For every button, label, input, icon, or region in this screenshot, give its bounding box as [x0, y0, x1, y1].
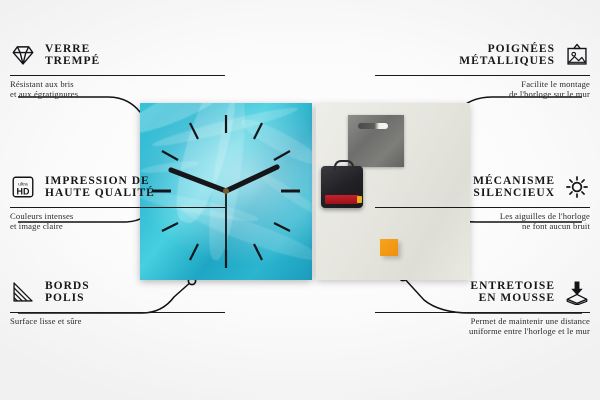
battery — [325, 195, 359, 204]
feature-impression-haute-qualite: ultra HD IMPRESSION DE HAUTE QUALITÉ Cou… — [10, 170, 225, 231]
feature-description: Résistant aux bris et aux égratignures — [10, 79, 225, 99]
keyhole-slot — [358, 123, 388, 129]
title-underline — [10, 207, 225, 208]
feature-header: VERRE TREMPÉ — [10, 38, 225, 72]
diamond-icon — [10, 42, 36, 68]
hanger-loop — [334, 160, 354, 171]
feature-title: IMPRESSION DE HAUTE QUALITÉ — [45, 175, 155, 200]
gear-icon — [564, 174, 590, 200]
quartz-movement — [321, 166, 363, 208]
feature-description: Facilite le montage de l'horloge sur le … — [375, 79, 590, 99]
feature-bords-polis: BORDS POLIS Surface lisse et sûre — [10, 275, 225, 326]
feature-mecanisme-silencieux: MÉCANISME SILENCIEUX Les aiguilles de l'… — [375, 170, 590, 231]
feature-entretoise-en-mousse: ENTRETOISE EN MOUSSE Permet de maintenir… — [375, 275, 590, 336]
feature-description: Surface lisse et sûre — [10, 316, 225, 326]
feature-header: ultra HD IMPRESSION DE HAUTE QUALITÉ — [10, 170, 225, 204]
title-underline — [375, 312, 590, 313]
title-underline — [375, 75, 590, 76]
feature-header: ENTRETOISE EN MOUSSE — [375, 275, 590, 309]
title-underline — [375, 207, 590, 208]
metal-hanger-plate — [348, 115, 404, 167]
svg-text:HD: HD — [17, 186, 30, 196]
feature-description: Permet de maintenir une distance uniform… — [375, 316, 590, 336]
clock-hand-hour — [226, 167, 277, 191]
infographic-canvas: VERRE TREMPÉ Résistant aux bris et aux é… — [0, 0, 600, 400]
title-underline — [10, 312, 225, 313]
feature-description: Les aiguilles de l'horloge ne font aucun… — [375, 211, 590, 231]
feature-verre-trempe: VERRE TREMPÉ Résistant aux bris et aux é… — [10, 38, 225, 99]
ultra-hd-icon: ultra HD — [10, 174, 36, 200]
feature-header: BORDS POLIS — [10, 275, 225, 309]
battery-plus-terminal — [357, 196, 362, 203]
title-underline — [10, 75, 225, 76]
feature-title: MÉCANISME SILENCIEUX — [473, 175, 555, 200]
foam-spacer — [380, 239, 398, 256]
feature-description: Couleurs intenses et image claire — [10, 211, 225, 231]
feature-header: POIGNÉES MÉTALLIQUES — [375, 38, 590, 72]
feature-title: ENTRETOISE EN MOUSSE — [470, 280, 555, 305]
foam-spacer-arrow-icon — [564, 279, 590, 305]
polished-edge-icon — [10, 279, 36, 305]
feature-header: MÉCANISME SILENCIEUX — [375, 170, 590, 204]
feature-title: VERRE TREMPÉ — [45, 43, 100, 68]
feature-poignees-metalliques: POIGNÉES MÉTALLIQUES Facilite le montage… — [375, 38, 590, 99]
feature-title: BORDS POLIS — [45, 280, 90, 305]
feature-title: POIGNÉES MÉTALLIQUES — [459, 43, 555, 68]
picture-frame-hanger-icon — [564, 42, 590, 68]
